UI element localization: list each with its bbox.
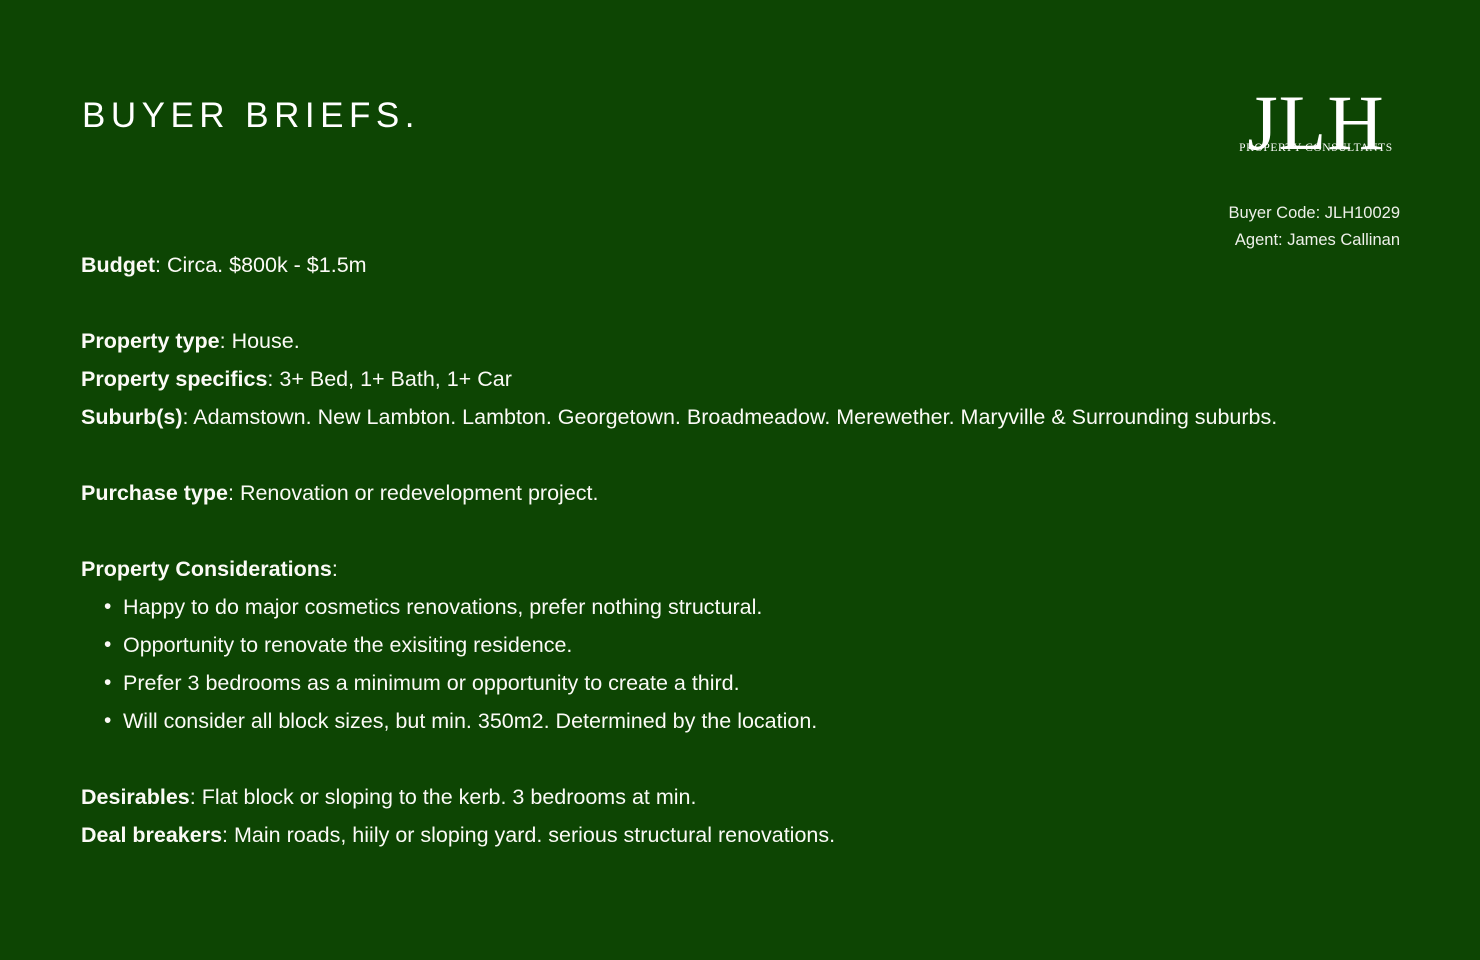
property-specifics-value: 3+ Bed, 1+ Bath, 1+ Car — [279, 367, 511, 391]
purchase-type-separator: : — [228, 481, 240, 505]
property-specifics-label: Property specifics — [81, 367, 267, 391]
bullet-icon: • — [104, 702, 111, 740]
budget-row: Budget: Circa. $800k - $1.5m — [81, 246, 1401, 284]
desirables-separator: : — [190, 785, 202, 809]
page-title: BUYER BRIEFS. — [82, 96, 420, 136]
spacer-4 — [81, 740, 1401, 778]
suburbs-row: Suburb(s): Adamstown. New Lambton. Lambt… — [81, 398, 1381, 436]
deal-breakers-value: Main roads, hiily or sloping yard. serio… — [234, 823, 835, 847]
deal-breakers-label: Deal breakers — [81, 823, 222, 847]
list-item: • Happy to do major cosmetics renovation… — [81, 588, 1401, 626]
bullet-icon: • — [104, 664, 111, 702]
considerations-heading: Property Considerations: — [81, 550, 1401, 588]
considerations-list: • Happy to do major cosmetics renovation… — [81, 588, 1401, 740]
list-item-text: Prefer 3 bedrooms as a minimum or opport… — [123, 671, 740, 695]
bullet-icon: • — [104, 588, 111, 626]
property-specifics-separator: : — [267, 367, 279, 391]
deal-breakers-separator: : — [222, 823, 234, 847]
budget-value: Circa. $800k - $1.5m — [167, 253, 367, 277]
spacer-1 — [81, 284, 1401, 322]
spacer-2 — [81, 436, 1401, 474]
budget-separator: : — [155, 253, 167, 277]
considerations-label: Property Considerations — [81, 557, 332, 581]
list-item: • Opportunity to renovate the exisiting … — [81, 626, 1401, 664]
property-type-value: House. — [232, 329, 300, 353]
purchase-type-row: Purchase type: Renovation or redevelopme… — [81, 474, 1401, 512]
list-item: • Will consider all block sizes, but min… — [81, 702, 1401, 740]
property-type-label: Property type — [81, 329, 220, 353]
list-item: • Prefer 3 bedrooms as a minimum or oppo… — [81, 664, 1401, 702]
property-type-separator: : — [220, 329, 232, 353]
purchase-type-label: Purchase type — [81, 481, 228, 505]
suburbs-separator: : — [183, 405, 194, 429]
jlh-logo: JLH PROPERTY CONSULTANTS — [1230, 86, 1402, 154]
budget-label: Budget — [81, 253, 155, 277]
list-item-text: Happy to do major cosmetics renovations,… — [123, 595, 762, 619]
desirables-value: Flat block or sloping to the kerb. 3 bed… — [202, 785, 697, 809]
list-item-text: Opportunity to renovate the exisiting re… — [123, 633, 572, 657]
buyer-code: Buyer Code: JLH10029 — [1228, 200, 1400, 227]
brief-content: Budget: Circa. $800k - $1.5m Property ty… — [81, 246, 1401, 854]
desirables-label: Desirables — [81, 785, 190, 809]
property-specifics-row: Property specifics: 3+ Bed, 1+ Bath, 1+ … — [81, 360, 1401, 398]
suburbs-value: Adamstown. New Lambton. Lambton. Georget… — [193, 405, 1277, 429]
considerations-separator: : — [332, 557, 338, 581]
list-item-text: Will consider all block sizes, but min. … — [123, 709, 817, 733]
suburbs-label: Suburb(s) — [81, 405, 183, 429]
spacer-3 — [81, 512, 1401, 550]
property-type-row: Property type: House. — [81, 322, 1401, 360]
deal-breakers-row: Deal breakers: Main roads, hiily or slop… — [81, 816, 1401, 854]
purchase-type-value: Renovation or redevelopment project. — [240, 481, 599, 505]
logo-subtitle: PROPERTY CONSULTANTS — [1230, 142, 1402, 154]
bullet-icon: • — [104, 626, 111, 664]
desirables-row: Desirables: Flat block or sloping to the… — [81, 778, 1401, 816]
